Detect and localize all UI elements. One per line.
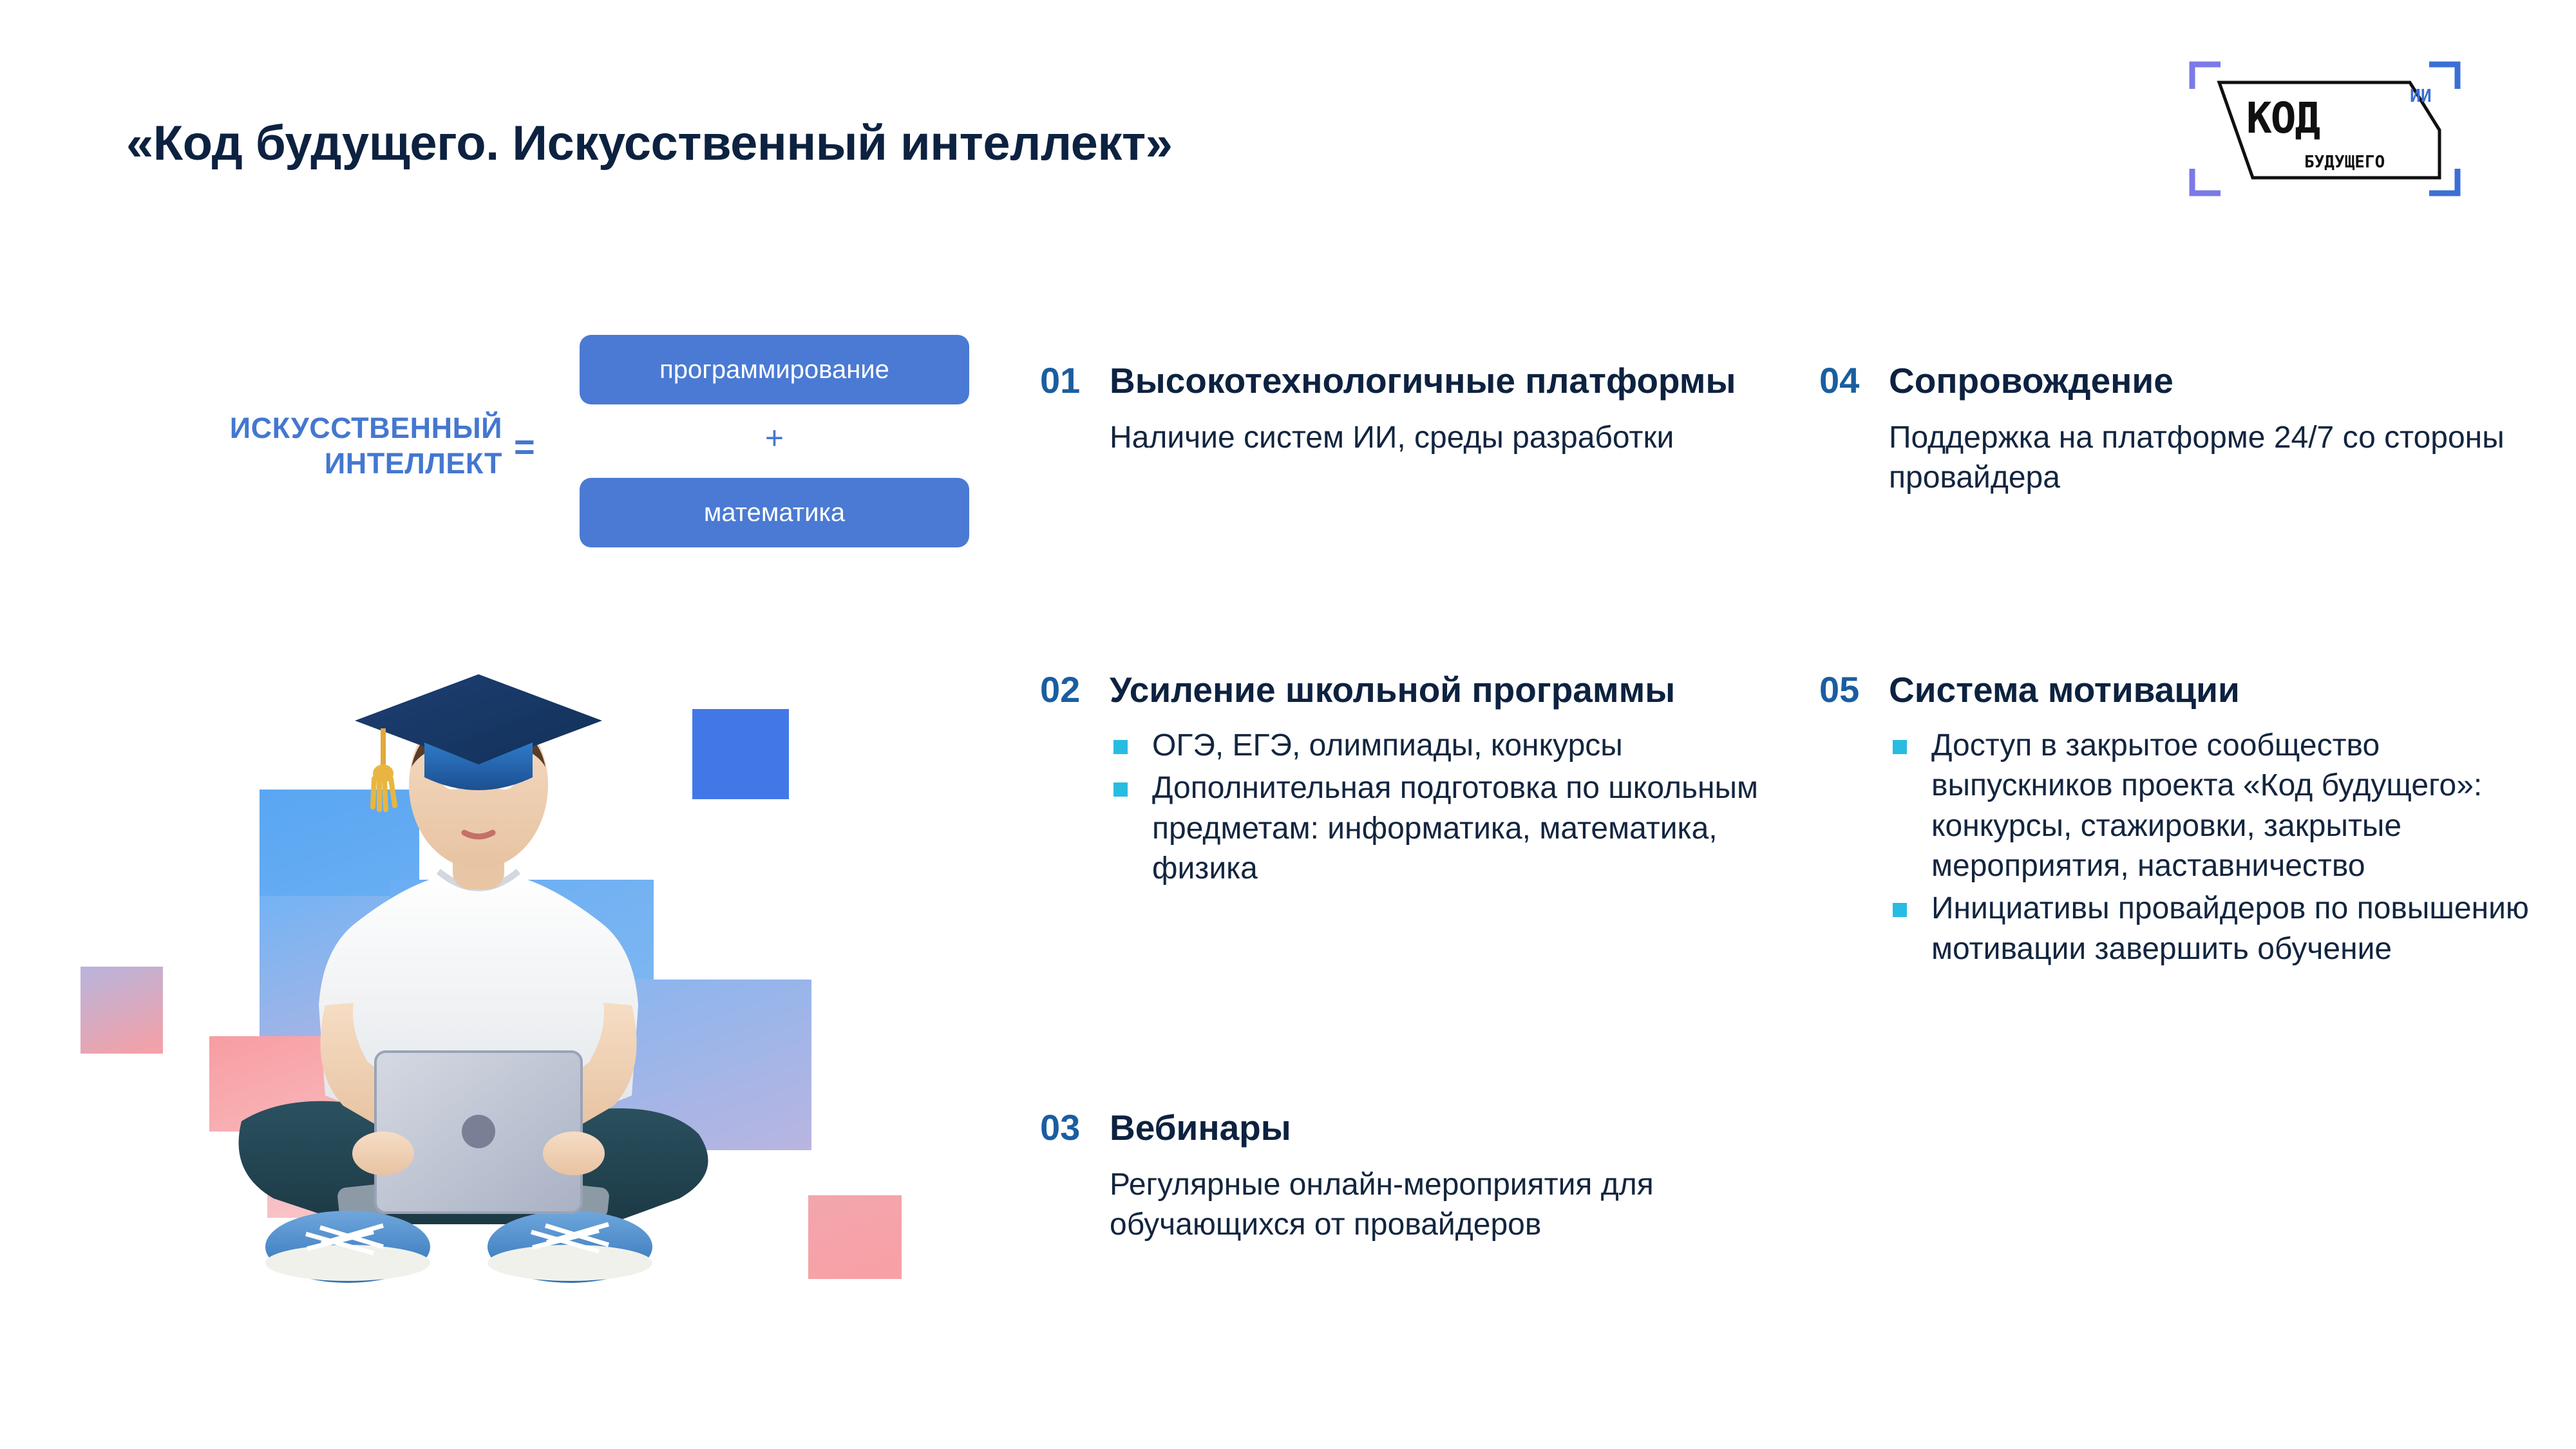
equals-sign: = bbox=[514, 429, 535, 465]
feature-number: 05 bbox=[1819, 670, 1889, 710]
feature-item-02: 02 Усиление школьной программы ОГЭ, ЕГЭ,… bbox=[1040, 670, 1813, 891]
hand-left bbox=[352, 1132, 414, 1175]
feature-body: Поддержка на платформе 24/7 со стороны п… bbox=[1889, 418, 2547, 498]
list-item: Инициативы провайдеров по повышению моти… bbox=[1889, 889, 2547, 969]
list-item: Дополнительная подготовка по школьным пр… bbox=[1110, 768, 1813, 889]
feature-item-04: 04 Сопровождение Поддержка на платформе … bbox=[1819, 361, 2547, 529]
cap-tassel bbox=[373, 779, 395, 810]
feature-item-01: 01 Высокотехнологичные платформы Наличие… bbox=[1040, 361, 1813, 489]
feature-bullet-list: ОГЭ, ЕГЭ, олимпиады, конкурсы Дополнител… bbox=[1110, 726, 1813, 889]
feature-number: 02 bbox=[1040, 670, 1110, 710]
graduation-cap bbox=[355, 674, 602, 810]
feature-body: Регулярные онлайн-мероприятия для обучаю… bbox=[1110, 1165, 1813, 1245]
feature-head: 02 Усиление школьной программы bbox=[1040, 670, 1813, 710]
page-title: «Код будущего. Искусственный интеллект» bbox=[126, 115, 1172, 171]
list-item: ОГЭ, ЕГЭ, олимпиады, конкурсы bbox=[1110, 726, 1813, 766]
list-item: Доступ в закрытое сообщество выпускников… bbox=[1889, 726, 2547, 887]
bullet-square-icon bbox=[1113, 782, 1128, 797]
feature-title: Система мотивации bbox=[1889, 670, 2547, 710]
feature-item-03: 03 Вебинары Регулярные онлайн-мероприяти… bbox=[1040, 1108, 1813, 1276]
feature-title: Усиление школьной программы bbox=[1110, 670, 1813, 710]
feature-title: Сопровождение bbox=[1889, 361, 2547, 401]
feature-head: 01 Высокотехнологичные платформы bbox=[1040, 361, 1813, 401]
feature-title: Высокотехнологичные платформы bbox=[1110, 361, 1813, 401]
feature-body: Наличие систем ИИ, среды разработки bbox=[1110, 418, 1813, 458]
shoe-left bbox=[265, 1211, 430, 1283]
ai-subject-line-2: ИНТЕЛЛЕКТ bbox=[142, 446, 502, 482]
shoe-right bbox=[488, 1211, 652, 1283]
ai-equation-subject: ИСКУССТВЕННЫЙ ИНТЕЛЛЕКТ bbox=[142, 411, 502, 482]
feature-number: 01 bbox=[1040, 361, 1110, 401]
logo-word-kod: КОД bbox=[2246, 93, 2320, 143]
student-illustration bbox=[80, 645, 847, 1353]
list-item-text: Дополнительная подготовка по школьным пр… bbox=[1152, 771, 1758, 885]
student-figure bbox=[80, 645, 847, 1353]
ai-subject-line-1: ИСКУССТВЕННЫЙ bbox=[142, 411, 502, 446]
bullet-square-icon bbox=[1113, 740, 1128, 754]
feature-head: 03 Вебинары bbox=[1040, 1108, 1813, 1148]
logo-badge-ii: ИИ bbox=[2410, 85, 2432, 106]
brand-logo: КОД БУДУЩЕГО ИИ bbox=[2183, 52, 2467, 206]
ai-definition-equation: ИСКУССТВЕННЫЙ ИНТЕЛЛЕКТ = программирован… bbox=[122, 335, 998, 547]
laptop bbox=[375, 1052, 582, 1213]
hand-right bbox=[543, 1132, 605, 1175]
feature-bullet-list: Доступ в закрытое сообщество выпускников… bbox=[1889, 726, 2547, 969]
feature-item-05: 05 Система мотивации Доступ в закрытое с… bbox=[1819, 670, 2547, 972]
equation-term-math: математика bbox=[580, 478, 969, 547]
feature-head: 05 Система мотивации bbox=[1819, 670, 2547, 710]
bullet-square-icon bbox=[1893, 740, 1907, 754]
list-item-text: ОГЭ, ЕГЭ, олимпиады, конкурсы bbox=[1152, 728, 1623, 762]
feature-number: 04 bbox=[1819, 361, 1889, 401]
feature-title: Вебинары bbox=[1110, 1108, 1813, 1148]
list-item-text: Инициативы провайдеров по повышению моти… bbox=[1931, 891, 2529, 965]
bullet-square-icon bbox=[1893, 903, 1907, 917]
feature-head: 04 Сопровождение bbox=[1819, 361, 2547, 401]
logo-word-budushchego: БУДУЩЕГО bbox=[2304, 153, 2385, 172]
equation-term-programming: программирование bbox=[580, 335, 969, 404]
feature-number: 03 bbox=[1040, 1108, 1110, 1148]
list-item-text: Доступ в закрытое сообщество выпускников… bbox=[1931, 728, 2482, 883]
plus-sign: + bbox=[580, 412, 969, 464]
